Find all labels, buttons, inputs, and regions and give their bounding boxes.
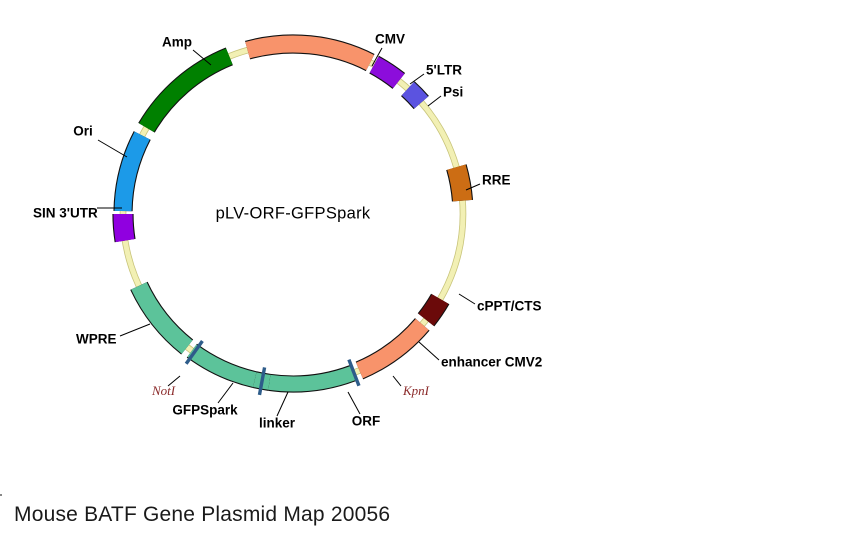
- feature-label-cppt-cts: cPPT/CTS: [477, 299, 542, 314]
- feature-arc-sin-3-utr[interactable]: [123, 214, 125, 241]
- feature-arc-cmv[interactable]: [248, 44, 371, 63]
- leader-line-kpni: [393, 376, 401, 386]
- leader-line-linker: [277, 392, 288, 416]
- feature-label-cmv: CMV: [375, 32, 405, 47]
- leader-line-cppt-cts: [459, 294, 475, 304]
- leader-line-orf: [348, 392, 360, 414]
- feature-label-wpre: WPRE: [76, 332, 117, 347]
- feature-arc-rre[interactable]: [456, 167, 462, 201]
- enzyme-label-noti: NotI: [151, 383, 176, 398]
- feature-label-orf: ORF: [352, 414, 381, 429]
- enzyme-label-kpni: KpnI: [402, 383, 430, 398]
- plasmid-map-figure: AmpCMV5'LTRPsiRREcPPT/CTSenhancer CMV2OR…: [0, 0, 853, 542]
- feature-label-sin-3-utr: SIN 3'UTR: [33, 206, 98, 221]
- feature-arc-cppt-cts[interactable]: [426, 299, 440, 320]
- feature-arc-gfpspark[interactable]: [192, 351, 255, 380]
- feature-label-rre: RRE: [482, 173, 511, 188]
- feature-label-psi: Psi: [443, 85, 463, 100]
- plasmid-name-label: pLV-ORF-GFPSpark: [216, 204, 371, 222]
- leader-line-5-ltr: [410, 74, 424, 84]
- feature-label-5-ltr: 5'LTR: [426, 63, 462, 78]
- corner-artifact-mark: [0, 494, 2, 496]
- leader-line-enhancer-cmv2: [419, 342, 439, 360]
- feature-label-amp: Amp: [162, 35, 192, 50]
- figure-caption: Mouse BATF Gene Plasmid Map 20056: [14, 503, 390, 527]
- feature-label-enhancer-cmv2: enhancer CMV2: [441, 355, 542, 370]
- feature-label-gfpspark: GFPSpark: [172, 403, 238, 418]
- leader-line-psi: [428, 96, 441, 106]
- leader-line-gfpspark: [218, 383, 233, 403]
- feature-arc-5-ltr[interactable]: [374, 65, 399, 81]
- feature-label-linker: linker: [259, 416, 296, 431]
- feature-arc-psi[interactable]: [408, 89, 421, 103]
- leader-line-wpre: [120, 324, 150, 336]
- leader-line-ori: [98, 140, 127, 157]
- feature-labels: AmpCMV5'LTRPsiRREcPPT/CTSenhancer CMV2OR…: [33, 32, 542, 431]
- feature-label-ori: Ori: [73, 124, 93, 139]
